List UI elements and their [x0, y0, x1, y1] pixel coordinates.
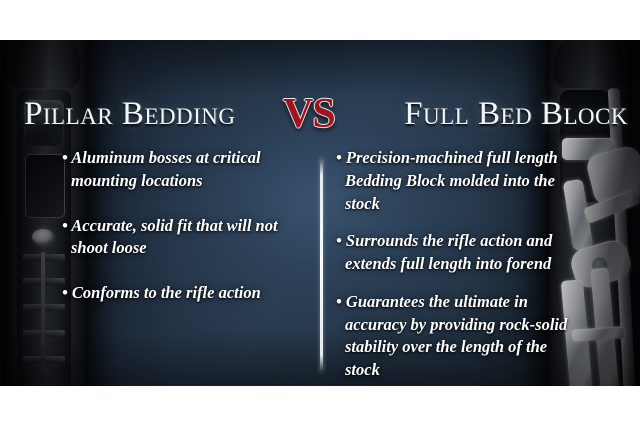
left-bullet-column: • Aluminum bosses at critical mounting l…: [62, 147, 310, 327]
versus-label: VS: [283, 90, 335, 138]
list-item: • Guarantees the ultimate in accuracy by…: [336, 291, 568, 382]
list-item: • Precision-machined full length Bedding…: [336, 147, 568, 215]
banner-panel: Pillar Bedding VS Full Bed Block • Alumi…: [0, 40, 640, 386]
list-item: • Conforms to the rifle action: [62, 282, 310, 305]
magazine-well-recess: [25, 154, 65, 218]
left-heading: Pillar Bedding: [24, 96, 235, 133]
list-item: • Aluminum bosses at critical mounting l…: [62, 147, 310, 193]
stock-buttstock-shape: [10, 40, 80, 88]
list-item: • Surrounds the rifle action and extends…: [336, 230, 568, 276]
stock-center-spine: [41, 252, 45, 386]
stock-buttstock-shape: [554, 40, 624, 88]
right-heading: Full Bed Block: [404, 96, 628, 133]
aluminum-pillar-boss: [32, 229, 54, 245]
column-divider: [320, 158, 323, 372]
right-bullet-column: • Precision-machined full length Bedding…: [336, 147, 568, 386]
comparison-graphic: Pillar Bedding VS Full Bed Block • Alumi…: [0, 0, 640, 427]
list-item: • Accurate, solid fit that will not shoo…: [62, 215, 310, 261]
